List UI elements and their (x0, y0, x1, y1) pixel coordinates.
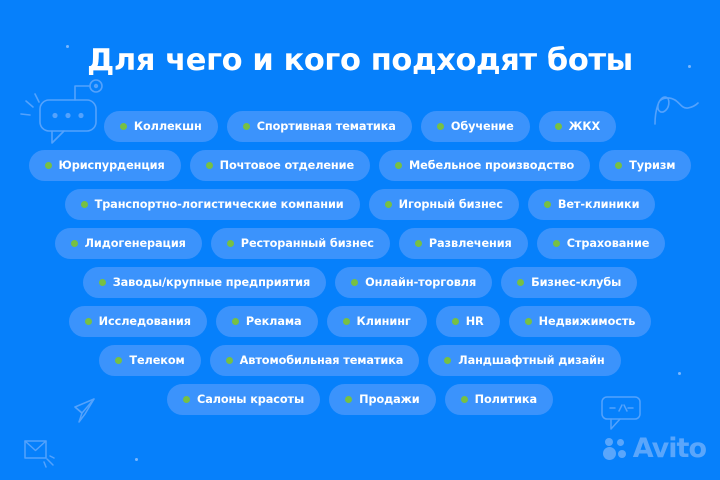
bullet-dot-icon (120, 123, 127, 130)
tag-chip[interactable]: Туризм (599, 150, 691, 181)
bullet-dot-icon (85, 318, 92, 325)
tag-label: Недвижимость (539, 315, 636, 328)
avito-mark-icon (603, 437, 628, 461)
tag-chip[interactable]: Онлайн-торговля (335, 267, 492, 298)
tag-chip[interactable]: Мебельное производство (379, 150, 590, 181)
bullet-dot-icon (345, 396, 352, 403)
tag-chip[interactable]: Спортивная тематика (227, 111, 412, 142)
tag-label: Ресторанный бизнес (241, 237, 374, 250)
bullet-dot-icon (71, 240, 78, 247)
tag-row: Транспортно-логистические компании Игорн… (0, 189, 720, 220)
tag-label: Игорный бизнес (399, 198, 503, 211)
bullet-dot-icon (343, 318, 350, 325)
tag-label: Юриспурденция (59, 159, 165, 172)
bullet-dot-icon (395, 162, 402, 169)
bullet-dot-icon (452, 318, 459, 325)
bullet-dot-icon (461, 396, 468, 403)
tag-label: HR (466, 315, 484, 328)
tag-chip[interactable]: Юриспурденция (29, 150, 181, 181)
bullet-dot-icon (544, 201, 551, 208)
tag-label: Телеком (129, 354, 184, 367)
envelope-icon (22, 438, 56, 468)
tag-label: ЖКХ (569, 120, 600, 133)
tag-chip[interactable]: ЖКХ (539, 111, 616, 142)
bullet-dot-icon (206, 162, 213, 169)
bullet-dot-icon (525, 318, 532, 325)
tag-row: Юриспурденция Почтовое отделение Мебельн… (0, 150, 720, 181)
bullet-dot-icon (517, 279, 524, 286)
tag-chip[interactable]: Игорный бизнес (369, 189, 519, 220)
tag-label: Реклама (246, 315, 302, 328)
bullet-dot-icon (351, 279, 358, 286)
tag-label: Продажи (359, 393, 420, 406)
tag-row: Коллекшн Спортивная тематика Обучение ЖК… (0, 111, 720, 142)
tag-label: Обучение (451, 120, 514, 133)
tag-label: Туризм (629, 159, 675, 172)
tag-label: Почтовое отделение (220, 159, 354, 172)
bullet-dot-icon (45, 162, 52, 169)
bullet-dot-icon (385, 201, 392, 208)
tag-label: Салоны красоты (197, 393, 304, 406)
tag-chip[interactable]: Лидогенерация (55, 228, 202, 259)
tag-row: Телеком Автомобильная тематика Ландшафтн… (0, 345, 720, 376)
tag-chip[interactable]: Исследования (69, 306, 207, 337)
tag-rows: Коллекшн Спортивная тематика Обучение ЖК… (0, 111, 720, 415)
bullet-dot-icon (243, 123, 250, 130)
tag-chip[interactable]: Коллекшн (104, 111, 218, 142)
avito-logo: Avito (603, 435, 706, 462)
bullet-dot-icon (183, 396, 190, 403)
tag-label: Онлайн-торговля (365, 276, 476, 289)
tag-chip[interactable]: Развлечения (399, 228, 528, 259)
tag-label: Коллекшн (134, 120, 202, 133)
tag-row: Салоны красоты Продажи Политика (0, 384, 720, 415)
page-title-wrapper: Для чего и кого подходят боты (0, 44, 720, 78)
tag-chip[interactable]: Вет-клиники (528, 189, 656, 220)
bullet-dot-icon (115, 357, 122, 364)
tag-label: Ландшафтный дизайн (458, 354, 604, 367)
bullet-dot-icon (615, 162, 622, 169)
tag-chip[interactable]: Салоны красоты (167, 384, 320, 415)
avito-wordmark: Avito (633, 435, 706, 462)
tag-chip[interactable]: Транспортно-логистические компании (65, 189, 360, 220)
tag-label: Мебельное производство (409, 159, 574, 172)
bullet-dot-icon (437, 123, 444, 130)
tag-row: Лидогенерация Ресторанный бизнес Развлеч… (0, 228, 720, 259)
tag-label: Автомобильная тематика (240, 354, 404, 367)
bullet-dot-icon (232, 318, 239, 325)
bullet-dot-icon (444, 357, 451, 364)
poster-canvas: Для чего и кого подходят боты Коллекшн С… (0, 0, 720, 480)
bullet-dot-icon (81, 201, 88, 208)
tag-label: Политика (475, 393, 537, 406)
tag-chip[interactable]: Ресторанный бизнес (211, 228, 390, 259)
tag-chip[interactable]: Ландшафтный дизайн (428, 345, 620, 376)
bullet-dot-icon (226, 357, 233, 364)
tag-chip[interactable]: Заводы/крупные предприятия (83, 267, 326, 298)
bullet-dot-icon (99, 279, 106, 286)
tag-chip[interactable]: HR (436, 306, 500, 337)
tag-row: Исследования Реклама Клининг HR Недвижим… (0, 306, 720, 337)
tag-chip[interactable]: Автомобильная тематика (210, 345, 420, 376)
tag-label: Лидогенерация (85, 237, 186, 250)
tag-label: Спортивная тематика (257, 120, 396, 133)
tag-chip[interactable]: Клининг (327, 306, 427, 337)
tag-chip[interactable]: Бизнес-клубы (501, 267, 637, 298)
tag-label: Исследования (99, 315, 191, 328)
bullet-dot-icon (415, 240, 422, 247)
tag-label: Бизнес-клубы (531, 276, 621, 289)
tag-label: Транспортно-логистические компании (95, 198, 344, 211)
tag-label: Заводы/крупные предприятия (113, 276, 310, 289)
tag-chip[interactable]: Реклама (216, 306, 318, 337)
tag-chip[interactable]: Недвижимость (509, 306, 652, 337)
tag-chip[interactable]: Телеком (99, 345, 200, 376)
bullet-dot-icon (227, 240, 234, 247)
speck-dot-icon (135, 458, 138, 461)
tag-row: Заводы/крупные предприятия Онлайн-торгов… (0, 267, 720, 298)
tag-label: Клининг (357, 315, 411, 328)
tag-chip[interactable]: Страхование (537, 228, 666, 259)
tag-chip[interactable]: Политика (445, 384, 553, 415)
tag-label: Развлечения (429, 237, 512, 250)
page-title: Для чего и кого подходят боты (87, 44, 633, 78)
tag-chip[interactable]: Обучение (421, 111, 530, 142)
bullet-dot-icon (555, 123, 562, 130)
tag-label: Страхование (567, 237, 650, 250)
bullet-dot-icon (553, 240, 560, 247)
tag-chip[interactable]: Почтовое отделение (190, 150, 370, 181)
tag-label: Вет-клиники (558, 198, 640, 211)
tag-chip[interactable]: Продажи (329, 384, 436, 415)
